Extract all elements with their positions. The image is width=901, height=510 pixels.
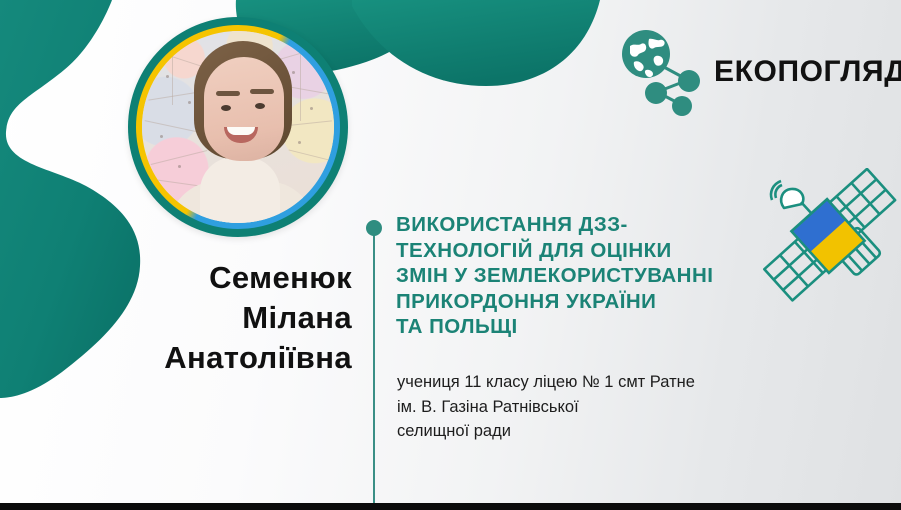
title-line: ПРИКОРДОННЯ УКРАЇНИ <box>396 289 796 315</box>
presenter-face <box>204 57 284 161</box>
bottom-bar <box>0 503 901 510</box>
subtitle-line: учениця 11 класу ліцею № 1 смт Ратне <box>397 370 817 395</box>
title-line: ТА ПОЛЬЩІ <box>396 314 796 340</box>
title-line: ЗМІН У ЗЕМЛЕКОРИСТУВАННІ <box>396 263 796 289</box>
page-title: ВИКОРИСТАННЯ ДЗЗ- ТЕХНОЛОГІЙ ДЛЯ ОЦІНКИ … <box>396 212 796 340</box>
title-line: ВИКОРИСТАННЯ ДЗЗ- <box>396 212 796 238</box>
presenter-first-name: Мілана <box>60 298 352 338</box>
presentation-title-slide: ЕКОПОГЛЯД <box>0 0 901 510</box>
brand-name: ЕКОПОГЛЯД <box>714 55 901 89</box>
title-line: ТЕХНОЛОГІЙ ДЛЯ ОЦІНКИ <box>396 238 796 264</box>
subtitle-line: ім. В. Газіна Ратнівської <box>397 395 817 420</box>
presenter-teeth <box>227 127 255 135</box>
subtitle-line: селищної ради <box>397 419 817 444</box>
presenter-name: Семенюк Мілана Анатоліївна <box>60 258 352 378</box>
presenter-neck <box>200 157 280 223</box>
divider-dot <box>366 220 382 236</box>
globe-network-icon <box>616 26 708 118</box>
brand-logo: ЕКОПОГЛЯД <box>616 24 878 120</box>
presenter-photo <box>142 31 334 223</box>
presenter-surname: Семенюк <box>60 258 352 298</box>
presenter-photo-circle <box>128 17 348 237</box>
page-subtitle: учениця 11 класу ліцею № 1 смт Ратне ім.… <box>397 370 817 444</box>
vertical-divider-line <box>373 234 375 503</box>
presenter-patronymic: Анатоліївна <box>60 338 352 378</box>
